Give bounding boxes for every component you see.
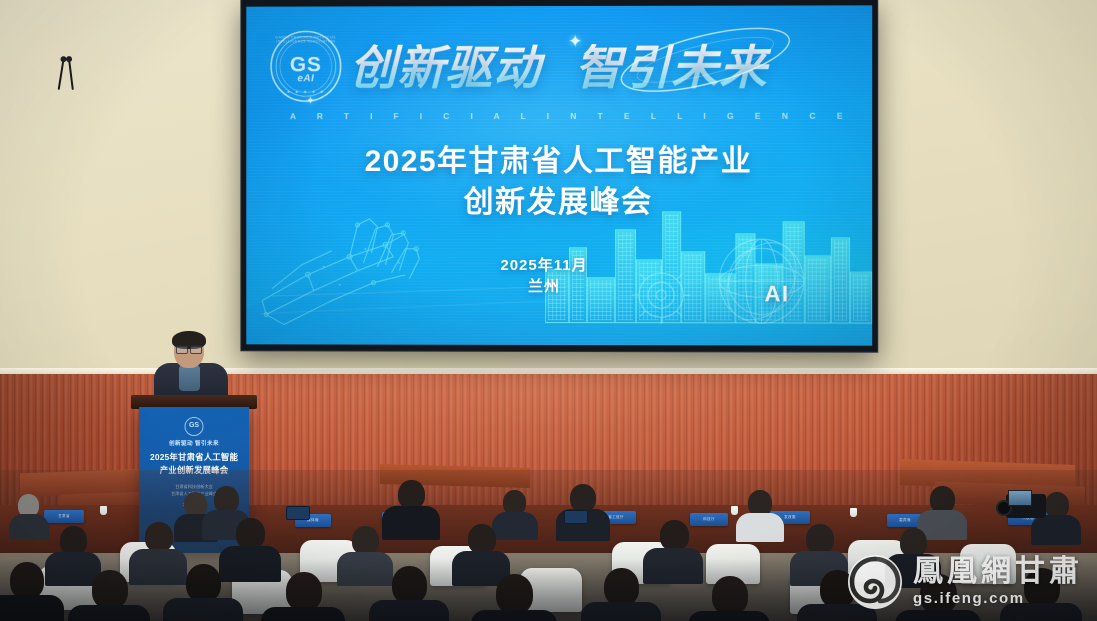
led-screen-frame: GANSU PROVINCE ARTIFICIAL INTELLIGENCE A… — [240, 0, 878, 353]
watermark: 鳳凰網甘肅 gs.ifeng.com — [846, 553, 1083, 611]
phoenix-logo-icon — [846, 553, 904, 611]
watermark-text: 鳳凰網甘肅 gs.ifeng.com — [913, 557, 1083, 607]
podium-kicker: 创新驱动 智引未来 — [139, 439, 249, 447]
cup — [850, 508, 857, 517]
watermark-brand-en: gs.ifeng.com — [913, 590, 1025, 607]
smartphone-icon — [286, 506, 310, 520]
podium-emblem: GS — [185, 417, 204, 436]
screen-vignette — [246, 5, 872, 345]
conference-photo: GANSU PROVINCE ARTIFICIAL INTELLIGENCE A… — [0, 0, 1097, 621]
video-camera — [1000, 488, 1052, 522]
speaker-shirt — [179, 365, 200, 391]
watermark-brand-cn: 鳳凰網甘肅 — [913, 557, 1083, 587]
smartphone-icon — [564, 510, 588, 524]
podium-title-line-1: 2025年甘肃省人工智能 — [139, 451, 249, 464]
name-placard: 甘肃省 — [44, 510, 84, 523]
cup — [731, 506, 738, 515]
led-screen: GANSU PROVINCE ARTIFICIAL INTELLIGENCE A… — [246, 5, 872, 345]
cup — [100, 506, 107, 515]
glasses-icon — [176, 345, 202, 352]
name-placard: 科技厅 — [690, 513, 728, 526]
camera-screen — [1008, 490, 1032, 506]
